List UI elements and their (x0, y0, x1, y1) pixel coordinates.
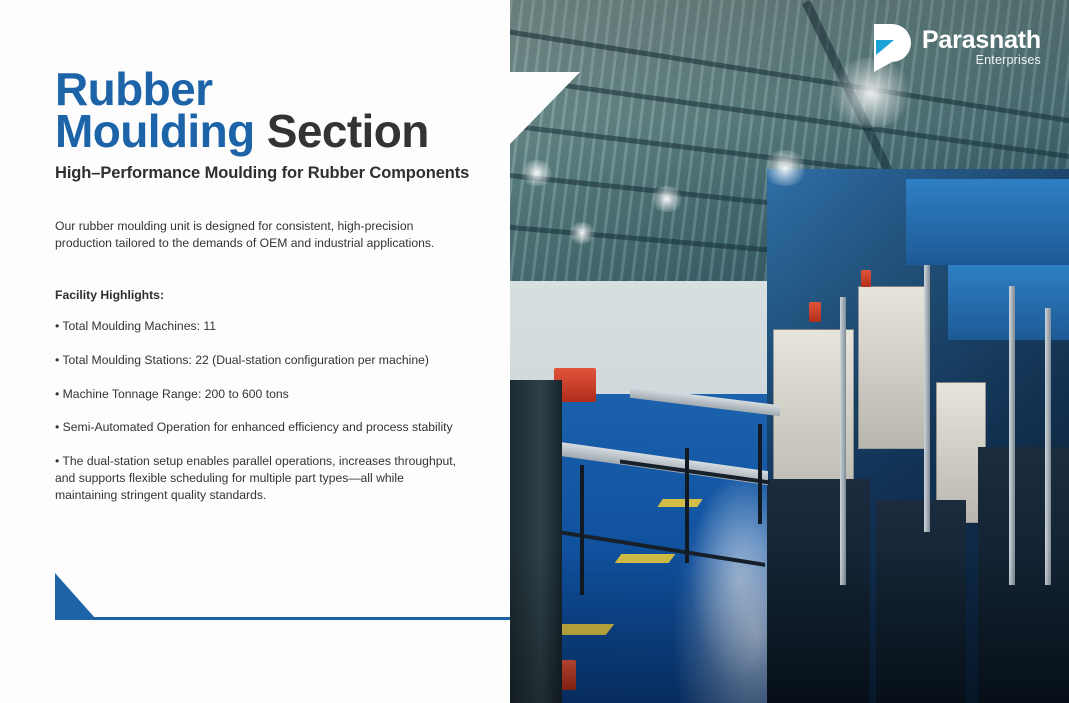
work-bench-leg (758, 424, 762, 524)
machine-warning-lamp (861, 270, 871, 287)
ceiling-lamp-icon (762, 150, 808, 186)
title-word-section: Section (267, 105, 429, 157)
slide-root: Rubber Moulding Section High–Performance… (0, 0, 1069, 703)
facility-highlights-list: • Total Moulding Machines: 11 • Total Mo… (55, 318, 467, 521)
logo-company-name: Parasnath (922, 27, 1041, 53)
intro-paragraph: Our rubber moulding unit is designed for… (55, 218, 447, 251)
machine-base (767, 479, 870, 703)
brand-logo: Parasnath Enterprises (870, 22, 1041, 72)
machine-base (876, 500, 967, 703)
parasnath-p-mark-icon (870, 22, 912, 72)
title-line-1: Rubber (55, 68, 495, 110)
moulding-machine-body (906, 179, 1069, 264)
page-subtitle: High–Performance Moulding for Rubber Com… (55, 163, 475, 183)
factory-photo: Parasnath Enterprises (510, 0, 1069, 703)
left-content-panel: Rubber Moulding Section High–Performance… (0, 0, 510, 703)
photo-foreground-pillar (510, 380, 562, 703)
list-item: • Total Moulding Stations: 22 (Dual-stat… (55, 352, 467, 369)
machine-hydraulic-rod (1045, 308, 1051, 586)
photo-machine-bank (767, 169, 1069, 703)
list-item: • Machine Tonnage Range: 200 to 600 tons (55, 386, 467, 403)
title-line-2: Moulding Section (55, 110, 495, 152)
ceiling-lamp-icon (520, 160, 554, 186)
list-item: • The dual-station setup enables paralle… (55, 453, 467, 503)
floor-safety-marking (657, 499, 702, 507)
logo-wordmark: Parasnath Enterprises (922, 27, 1041, 67)
machine-control-panel (858, 286, 926, 448)
facility-highlights-label: Facility Highlights: (55, 288, 164, 302)
page-title: Rubber Moulding Section (55, 68, 495, 152)
machine-warning-lamp (809, 302, 821, 322)
corner-triangle-decoration (55, 573, 95, 618)
list-item: • Semi-Automated Operation for enhanced … (55, 419, 467, 436)
work-bench-leg (580, 465, 584, 595)
title-word-moulding: Moulding (55, 105, 255, 157)
logo-tagline: Enterprises (922, 53, 1041, 67)
machine-hydraulic-rod (840, 297, 846, 586)
machine-base (978, 447, 1069, 703)
ceiling-lamp-icon (568, 222, 596, 244)
list-item: • Total Moulding Machines: 11 (55, 318, 467, 335)
work-bench-leg (685, 448, 689, 563)
machine-hydraulic-rod (924, 265, 930, 532)
bottom-rule-divider (55, 617, 510, 620)
floor-safety-marking (615, 554, 676, 563)
machine-hydraulic-rod (1009, 286, 1015, 585)
ceiling-lamp-icon (650, 186, 684, 212)
